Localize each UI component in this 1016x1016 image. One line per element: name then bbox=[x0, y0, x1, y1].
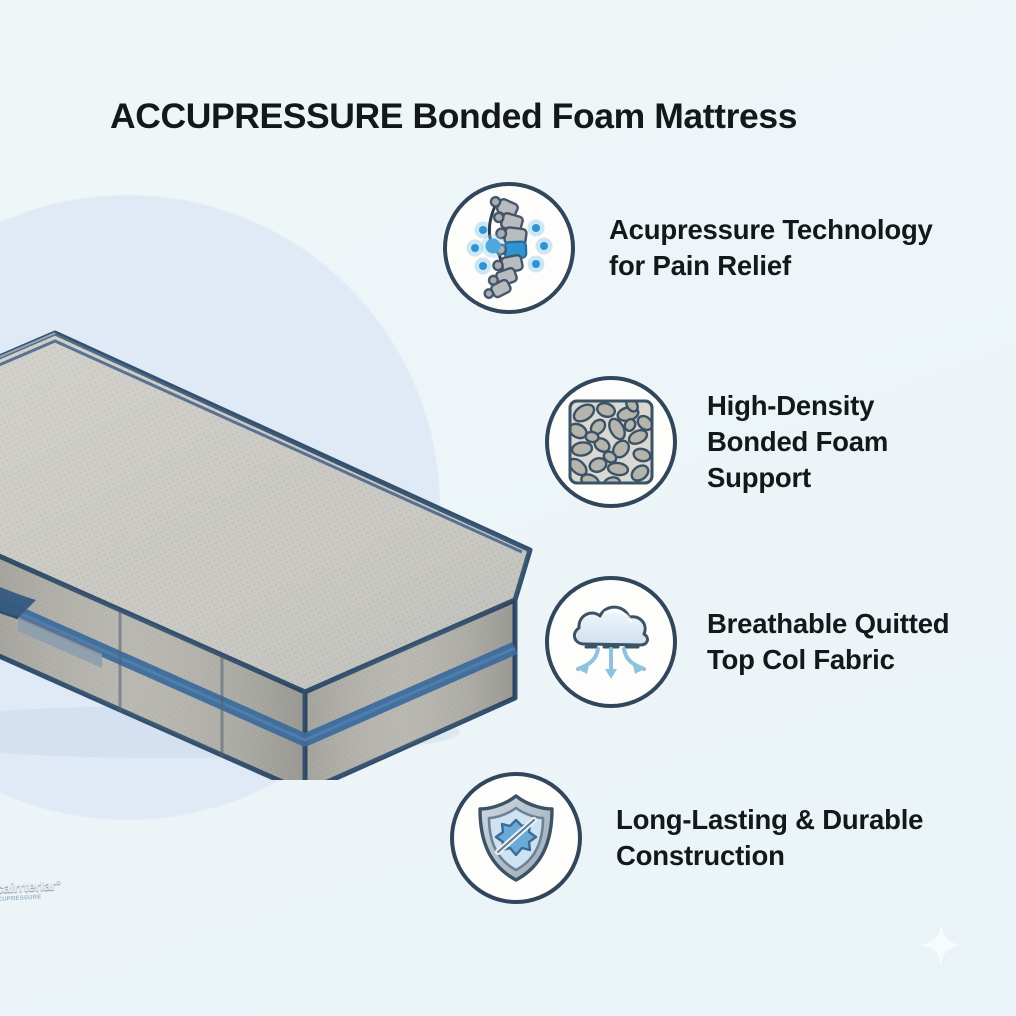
bonded-foam-texture-icon bbox=[545, 376, 677, 508]
four-point-star-sparkle-icon bbox=[918, 922, 964, 968]
feature-label-bonded-foam: High-Density Bonded Foam Support bbox=[707, 388, 888, 497]
breathable-cloud-airflow-icon bbox=[545, 576, 677, 708]
feature-label-acupressure: Acupressure Technology for Pain Relief bbox=[609, 212, 933, 285]
feature-label-durability: Long-Lasting & Durable Construction bbox=[616, 802, 923, 875]
mattress-product-image: ApAcairrterlar° ACCUPRESSURE bbox=[0, 300, 570, 785]
feature-row-bonded-foam: High-Density Bonded Foam Support bbox=[545, 376, 888, 508]
shield-durability-icon bbox=[450, 772, 582, 904]
brand-name-text: ApAcairrterlar° bbox=[0, 877, 75, 899]
feature-label-breathable: Breathable Quitted Top Col Fabric bbox=[707, 606, 949, 679]
spine-acupressure-icon bbox=[443, 182, 575, 314]
feature-row-breathable: Breathable Quitted Top Col Fabric bbox=[545, 576, 949, 708]
feature-row-durability: Long-Lasting & Durable Construction bbox=[450, 772, 923, 904]
page-title: ACCUPRESSURE Bonded Foam Mattress bbox=[110, 96, 797, 137]
brand-sub-text: ACCUPRESSURE bbox=[0, 893, 75, 906]
infographic-canvas: ACCUPRESSURE Bonded Foam Mattress bbox=[0, 0, 1016, 1016]
mattress-brand-label: ApAcairrterlar° ACCUPRESSURE bbox=[0, 880, 75, 902]
feature-row-acupressure: Acupressure Technology for Pain Relief bbox=[443, 182, 933, 314]
